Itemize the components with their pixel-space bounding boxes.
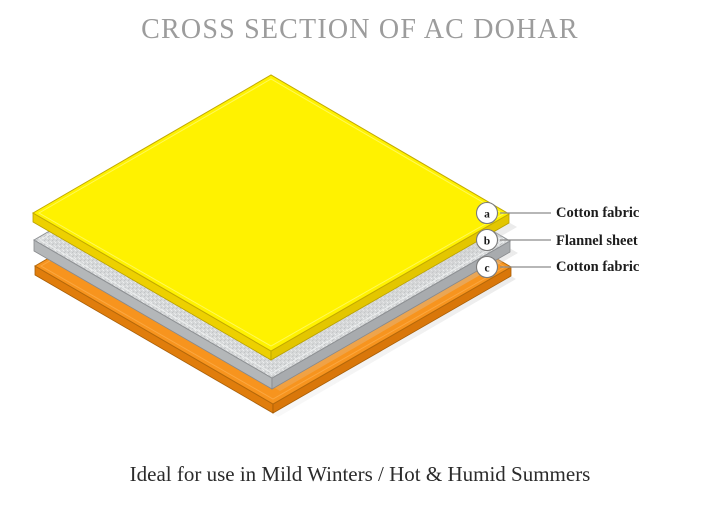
marker-a[interactable]: a: [477, 203, 498, 224]
marker-c-letter: c: [484, 263, 489, 275]
layer-stack-illustration: a b c: [0, 0, 720, 509]
callout-label-a: Cotton fabric: [556, 205, 639, 222]
page-caption: Ideal for use in Mild Winters / Hot & Hu…: [0, 462, 720, 487]
marker-c[interactable]: c: [477, 257, 498, 278]
callout-label-b: Flannel sheet: [556, 233, 638, 250]
marker-b[interactable]: b: [477, 230, 498, 251]
page-title: CROSS SECTION OF AC DOHAR: [0, 14, 720, 46]
diagram-canvas: CROSS SECTION OF AC DOHAR: [0, 0, 720, 509]
marker-a-letter: a: [484, 209, 490, 221]
callout-label-c: Cotton fabric: [556, 259, 639, 276]
marker-b-letter: b: [484, 236, 490, 248]
layer-a-cotton-fabric-top: [33, 75, 517, 365]
